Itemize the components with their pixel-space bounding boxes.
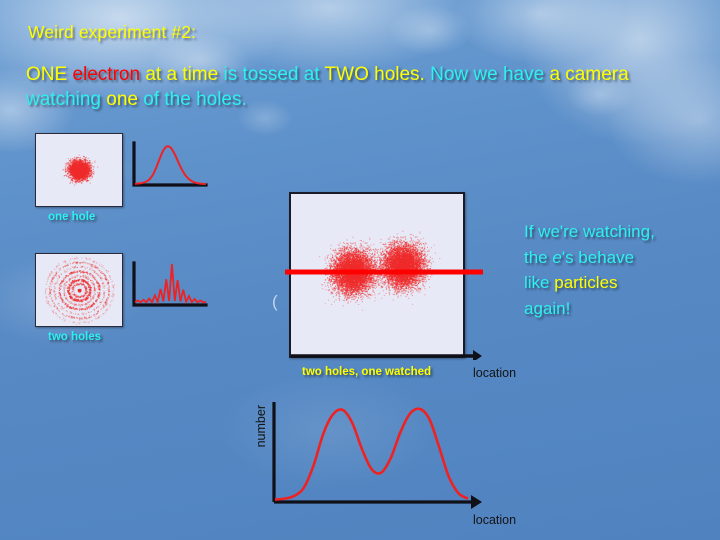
panel-one-hole bbox=[35, 133, 123, 207]
electron-symbol: e bbox=[552, 248, 561, 267]
caption-two-holes: two holes bbox=[48, 331, 101, 343]
bottom-chart bbox=[268, 398, 488, 516]
faint-paren-glyph: ( bbox=[272, 292, 278, 312]
right-note-line-3: like particles bbox=[524, 270, 716, 296]
body-word-at: at bbox=[304, 64, 325, 85]
mid-axes bbox=[285, 188, 483, 360]
body-word-one: one bbox=[106, 89, 143, 110]
right-note-line-4: again! bbox=[524, 296, 716, 322]
caption-two-holes-one-watched: two holes, one watched bbox=[302, 366, 431, 378]
body-word-one: ONE bbox=[26, 64, 72, 85]
curve-two-holes bbox=[130, 260, 208, 312]
slide-title: Weird experiment #2: bbox=[28, 22, 196, 43]
panel-two-holes bbox=[35, 253, 123, 327]
bottom-y-axis-label: number bbox=[254, 405, 268, 447]
body-word-a-camera: a camera bbox=[544, 64, 628, 85]
body-word-is-tossed: is tossed bbox=[223, 64, 303, 85]
body-word-electron: electron bbox=[72, 64, 140, 85]
body-word-watching: watching bbox=[26, 89, 106, 110]
slide-canvas: Weird experiment #2: ONE electron at a t… bbox=[0, 0, 720, 540]
right-note: If we're watching, the e's behave like p… bbox=[524, 219, 716, 321]
right-note-line-1: If we're watching, bbox=[524, 219, 716, 245]
body-word-of-the-holes: of the holes. bbox=[143, 89, 247, 110]
right-note-line-2: the e's behave bbox=[524, 245, 716, 271]
mid-x-axis-label: location bbox=[473, 366, 516, 380]
body-word-at-a-time: at a time bbox=[140, 64, 223, 85]
body-word-now-we-have: Now we have bbox=[425, 64, 544, 85]
scatter-two-holes bbox=[36, 254, 122, 326]
caption-one-hole: one hole bbox=[48, 211, 95, 223]
curve-one-hole bbox=[130, 140, 208, 192]
right-note-highlight: particles bbox=[554, 273, 617, 292]
slide-body: ONE electron at a time is tossed at TWO … bbox=[26, 62, 702, 112]
bottom-x-axis-label: location bbox=[473, 513, 516, 527]
body-word-two-holes: TWO holes. bbox=[325, 64, 425, 85]
scatter-one-hole bbox=[36, 134, 122, 206]
